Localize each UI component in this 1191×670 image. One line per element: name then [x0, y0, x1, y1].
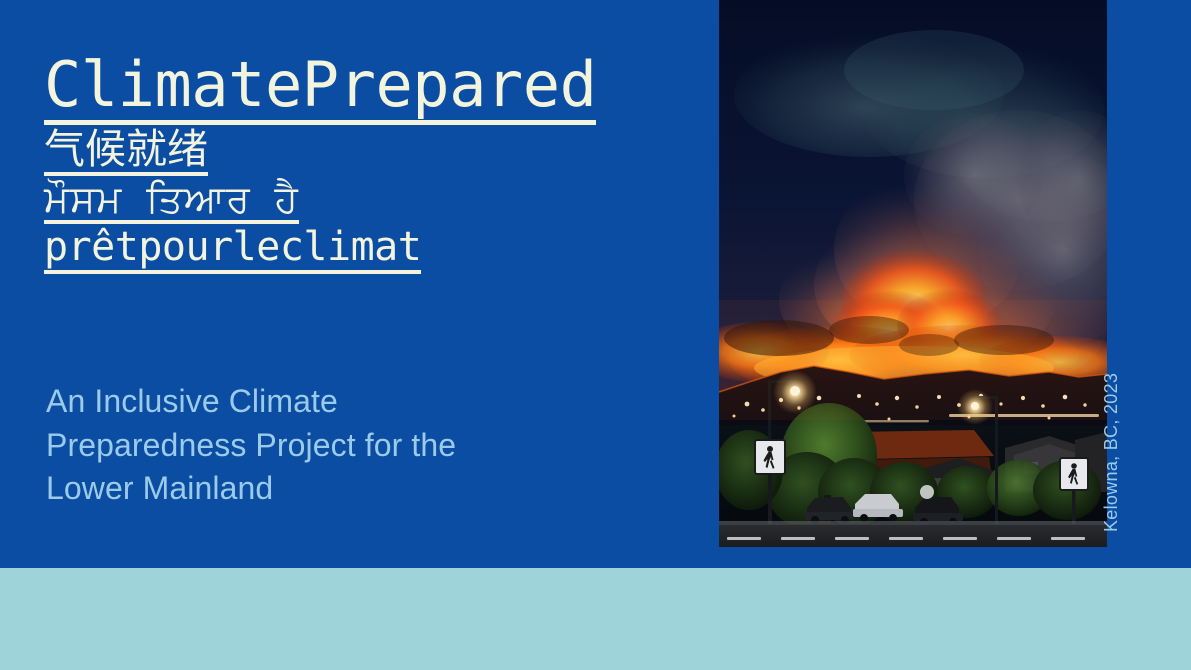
title-english: ClimatePrepared — [44, 54, 596, 125]
subtitle-text: An Inclusive Climate Preparedness Projec… — [46, 380, 546, 511]
wildfire-photo — [719, 0, 1107, 547]
title-punjabi: ਮੌਸਮ ਤਿਆਰ ਹੈ — [44, 180, 299, 224]
presentation-slide: ClimatePrepared 气候就绪 ਮੌਸਮ ਤਿਆਰ ਹੈ prêtpo… — [0, 0, 1191, 670]
bottom-accent-band — [0, 568, 1191, 670]
title-chinese: 气候就绪 — [44, 129, 208, 176]
photo-caption: Kelowna, BC, 2023 — [1101, 373, 1122, 532]
title-block: ClimatePrepared 气候就绪 ਮੌਸਮ ਤਿਆਰ ਹੈ prêtpo… — [44, 54, 704, 274]
photo-caption-wrapper: Kelowna, BC, 2023 — [1122, 352, 1148, 532]
wildfire-photo-graphic — [719, 0, 1107, 547]
title-french: prêtpourleclimat — [44, 227, 421, 274]
